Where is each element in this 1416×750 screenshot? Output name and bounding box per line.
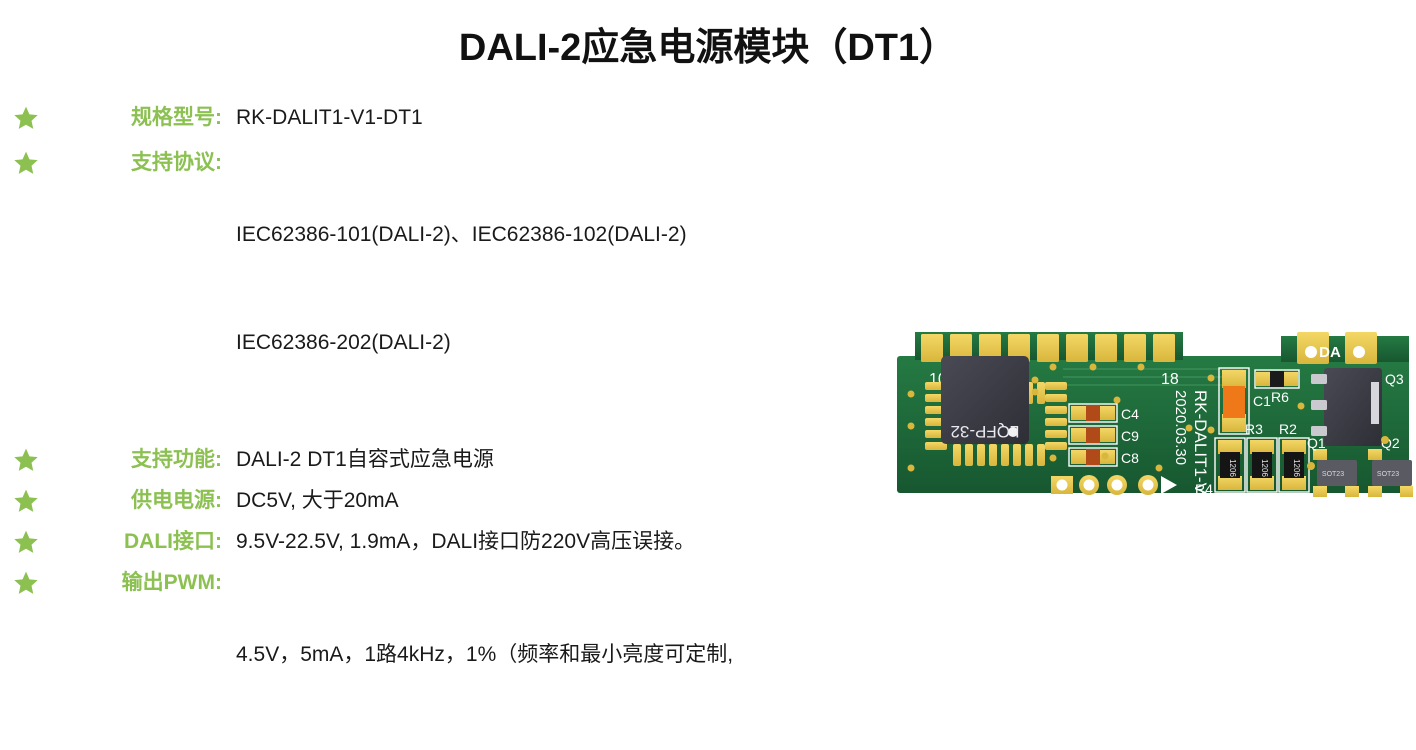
star-icon-cell (0, 145, 52, 176)
star-icon-cell (0, 524, 52, 555)
star-icon (13, 488, 39, 514)
spec-row-model: 规格型号: RK-DALIT1-V1-DT1 (0, 100, 990, 136)
pcb-label-c4: C4 (1121, 406, 1139, 422)
star-icon-cell (0, 483, 52, 514)
pcb-label-r6: R6 (1271, 389, 1289, 405)
star-icon-cell (0, 100, 52, 131)
spec-value-pwm-line1: 4.5V，5mA，1路4kHz，1%（频率和最小亮度可定制, (236, 637, 990, 673)
spec-label-dali-interface: DALI接口: (52, 524, 222, 560)
star-icon (13, 105, 39, 131)
pcb-label-r2: R2 (1279, 421, 1297, 437)
spec-value-function: DALI-2 DT1自容式应急电源 (222, 442, 990, 478)
pcb-label-q1: Q1 (1307, 435, 1326, 451)
pcb-resistor-code: 1206 (1260, 459, 1269, 477)
spec-row-dali-interface: DALI接口: 9.5V-22.5V, 1.9mA，DALI接口防220V高压误… (0, 524, 990, 560)
star-icon (13, 570, 39, 596)
spec-list: 规格型号: RK-DALIT1-V1-DT1 支持协议: IEC62386-10… (0, 100, 990, 750)
pcb-label-da: DA (1319, 344, 1341, 361)
pcb-label-c8: C8 (1121, 450, 1139, 466)
spec-label-pwm: 输出PWM: (52, 565, 222, 601)
spec-row-protocol: 支持协议: IEC62386-101(DALI-2)、IEC62386-102(… (0, 145, 990, 433)
page-title: DALI-2应急电源模块（DT1） (0, 16, 1416, 71)
pcb-pin-label-18: 18 (1161, 371, 1179, 388)
spec-value-protocol-line1: IEC62386-101(DALI-2)、IEC62386-102(DALI-2… (236, 217, 990, 253)
product-spec-page: DALI-2应急电源模块（DT1） 规格型号: RK-DALIT1-V1-DT1… (0, 0, 1416, 750)
spec-label-function: 支持功能: (52, 442, 222, 478)
star-icon (13, 529, 39, 555)
spec-row-function: 支持功能: DALI-2 DT1自容式应急电源 (0, 442, 990, 478)
spec-label-protocol: 支持协议: (52, 145, 222, 181)
pcb-illustration: DA 10 18 RK-DALIT1-V1 2020.03.30 (893, 318, 1413, 533)
star-icon-cell (0, 565, 52, 596)
spec-label-model: 规格型号: (52, 100, 222, 136)
spec-row-pwm: 输出PWM: 4.5V，5mA，1路4kHz，1%（频率和最小亮度可定制, 最小… (0, 565, 990, 750)
spec-value-model: RK-DALIT1-V1-DT1 (222, 100, 990, 136)
spec-value-pwm: 4.5V，5mA，1路4kHz，1%（频率和最小亮度可定制, 最小调光深度0.1… (222, 565, 990, 750)
star-icon-cell (0, 442, 52, 473)
pcb-label-r4: R4 (1195, 481, 1213, 497)
product-pcb-image: DA 10 18 RK-DALIT1-V1 2020.03.30 (893, 318, 1413, 533)
spec-value-pwm-line2: 最小调光深度0.1%）。 (236, 745, 990, 750)
pcb-label-c9: C9 (1121, 428, 1139, 444)
pcb-label-q3: Q3 (1385, 371, 1404, 387)
pcb-label-r3: R3 (1245, 421, 1263, 437)
spec-value-dali-interface: 9.5V-22.5V, 1.9mA，DALI接口防220V高压误接。 (222, 524, 990, 560)
pcb-resistor-code: 1206 (1292, 459, 1301, 477)
star-icon (13, 447, 39, 473)
spec-row-power: 供电电源: DC5V, 大于20mA (0, 483, 990, 519)
spec-label-power: 供电电源: (52, 483, 222, 519)
spec-value-protocol: IEC62386-101(DALI-2)、IEC62386-102(DALI-2… (222, 145, 990, 433)
spec-value-protocol-line2: IEC62386-202(DALI-2) (236, 325, 990, 361)
pcb-label-c1: C1 (1253, 393, 1271, 409)
spec-value-power: DC5V, 大于20mA (222, 483, 990, 519)
pcb-chip-label: LQFP-32 (951, 422, 1020, 441)
pcb-transistor-code: SOT23 (1377, 471, 1399, 478)
pcb-resistor-code: 1206 (1228, 459, 1237, 477)
pcb-transistor-code: SOT23 (1322, 471, 1344, 478)
star-icon (13, 150, 39, 176)
